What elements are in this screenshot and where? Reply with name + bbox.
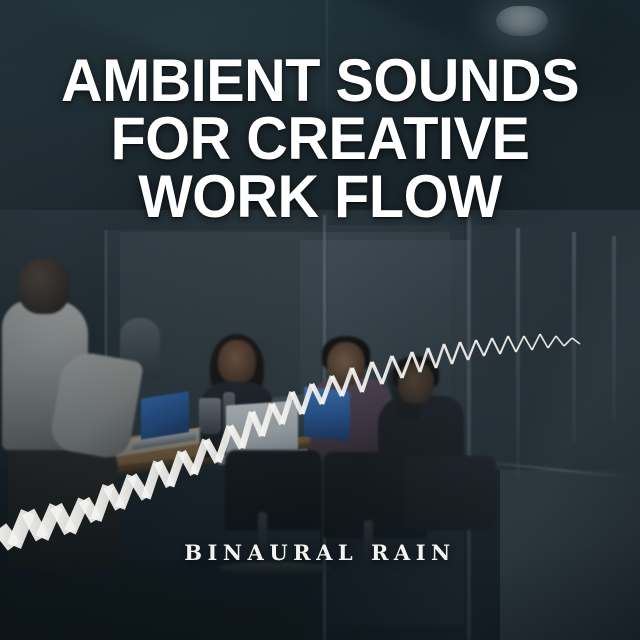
- title-line-3: WORK FLOW: [13, 168, 627, 226]
- title-line-1: AMBIENT SOUNDS: [13, 52, 627, 110]
- cover-title: AMBIENT SOUNDS FOR CREATIVE WORK FLOW: [0, 52, 640, 226]
- title-line-2: FOR CREATIVE: [13, 110, 627, 168]
- album-cover: AMBIENT SOUNDS FOR CREATIVE WORK FLOW BI…: [0, 0, 640, 640]
- cover-subtitle: BINAURAL RAIN: [0, 540, 640, 565]
